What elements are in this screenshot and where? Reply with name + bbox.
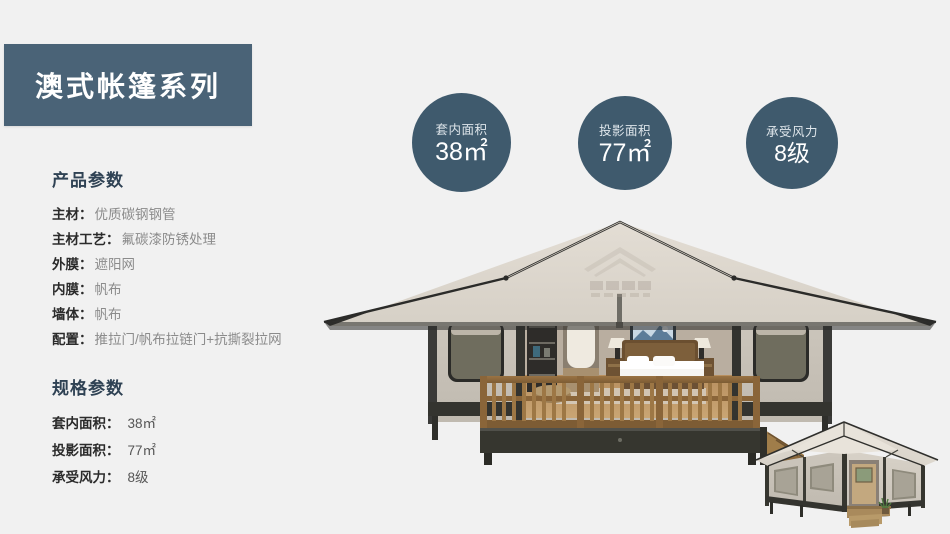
- param-row: 内膜：帆布: [52, 277, 352, 302]
- param-label: 内膜：: [52, 282, 93, 297]
- secondary-tent-image: [748, 420, 948, 534]
- param-row: 主材工艺：氟碳漆防锈处理: [52, 227, 352, 252]
- badge-label: 套内面积: [435, 119, 487, 138]
- badge-value: 77㎡: [599, 140, 652, 166]
- deck-platform: [480, 427, 760, 465]
- param-value: 帆布: [95, 307, 122, 322]
- param-value: 氟碳漆防锈处理: [122, 232, 217, 247]
- slide-canvas: 澳式帐篷系列 产品参数 主材：优质碳钢钢管 主材工艺：氟碳漆防锈处理 外膜：遮阳…: [0, 0, 950, 534]
- param-value: 优质碳钢钢管: [95, 207, 176, 222]
- spec-row: 套内面积：38㎡: [52, 410, 352, 437]
- param-row: 墙体：帆布: [52, 302, 352, 327]
- spec-params-group: 规格参数 套内面积：38㎡ 投影面积：77㎡ 承受风力：8级: [52, 374, 352, 491]
- stat-badge-interior-area: 套内面积 38㎡: [412, 93, 511, 192]
- specification-panel: 产品参数 主材：优质碳钢钢管 主材工艺：氟碳漆防锈处理 外膜：遮阳网 内膜：帆布…: [52, 166, 352, 491]
- param-row: 外膜：遮阳网: [52, 252, 352, 277]
- spec-row: 承受风力：8级: [52, 464, 352, 491]
- spec-label: 承受风力：: [52, 470, 120, 485]
- param-label: 墙体：: [52, 307, 93, 322]
- param-label: 主材工艺：: [52, 232, 120, 247]
- page-title: 澳式帐篷系列: [35, 65, 221, 105]
- spec-label: 套内面积：: [52, 416, 120, 431]
- deck-railing: [480, 376, 760, 428]
- stat-badge-wind-resistance: 承受风力 8级: [746, 97, 838, 189]
- tent-roof: [324, 222, 936, 330]
- param-value: 推拉门/帆布拉链门+抗撕裂拉网: [95, 332, 282, 347]
- param-label: 主材：: [52, 207, 93, 222]
- spec-row: 投影面积：77㎡: [52, 437, 352, 464]
- title-banner: 澳式帐篷系列: [4, 44, 252, 126]
- badge-value: 38㎡: [435, 139, 488, 165]
- param-row: 配置：推拉门/帆布拉链门+抗撕裂拉网: [52, 327, 352, 352]
- badge-label: 投影面积: [599, 120, 651, 139]
- param-label: 配置：: [52, 332, 93, 347]
- stat-badge-projected-area: 投影面积 77㎡: [578, 96, 672, 190]
- spec-value: 8级: [128, 470, 149, 485]
- spec-value: 38㎡: [128, 416, 157, 431]
- param-label: 外膜：: [52, 257, 93, 272]
- spec-params-heading: 规格参数: [52, 374, 352, 399]
- spec-label: 投影面积：: [52, 443, 120, 458]
- badge-label: 承受风力: [766, 121, 818, 140]
- badge-value: 8级: [774, 141, 810, 165]
- param-value: 帆布: [95, 282, 122, 297]
- spec-value: 77㎡: [128, 443, 157, 458]
- param-row: 主材：优质碳钢钢管: [52, 202, 352, 227]
- param-value: 遮阳网: [95, 257, 136, 272]
- product-params-heading: 产品参数: [52, 166, 352, 191]
